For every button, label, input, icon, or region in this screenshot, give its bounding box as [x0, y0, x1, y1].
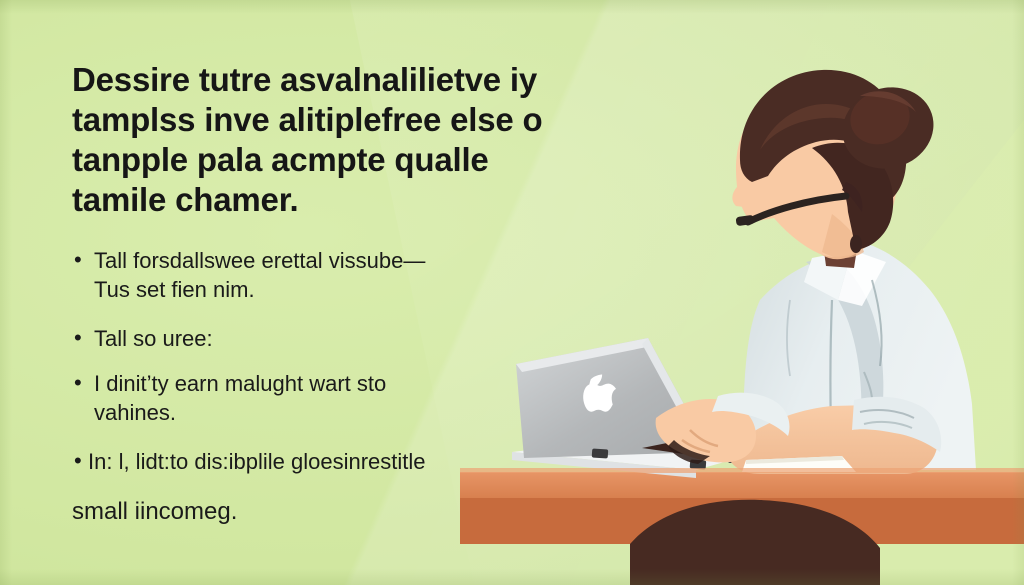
edge-shade-bottom [0, 569, 1024, 585]
list-item: I dinit’ty earn malught wart sto vahines… [72, 369, 582, 427]
earring-icon [850, 235, 862, 253]
slide-canvas: Dessire tutre asvalnalilietve iy tamplss… [0, 0, 1024, 585]
edge-shade-top [0, 0, 1024, 14]
bullet-line-primary: In: l, lidt:to dis:ibplile gloesinrestit… [88, 449, 426, 474]
bullet-line-primary: Tall so uree: [94, 326, 213, 351]
trailing-text: small iincomeg. [72, 496, 582, 528]
list-item: In: l, lidt:to dis:ibplile gloesinrestit… [72, 447, 608, 476]
bullet-line-primary: Tall forsdallswee erettal vissube— [94, 248, 425, 273]
bullet-list: Tall forsdallswee erettal vissube— Tus s… [72, 246, 582, 476]
list-item: Tall so uree: [72, 324, 582, 353]
page-title: Dessire tutre asvalnalilietve iy tamplss… [72, 60, 582, 220]
edge-shade-right [1012, 0, 1024, 585]
bullet-line-primary: I dinit’ty earn malught wart sto [94, 371, 386, 396]
edge-shade-left [0, 0, 12, 585]
text-content-column: Dessire tutre asvalnalilietve iy tamplss… [72, 60, 582, 528]
list-item: Tall forsdallswee erettal vissube— Tus s… [72, 246, 582, 304]
bullet-line-secondary: Tus set fien nim. [94, 275, 582, 304]
woman-head [732, 70, 944, 259]
bullet-line-secondary: vahines. [94, 398, 582, 427]
